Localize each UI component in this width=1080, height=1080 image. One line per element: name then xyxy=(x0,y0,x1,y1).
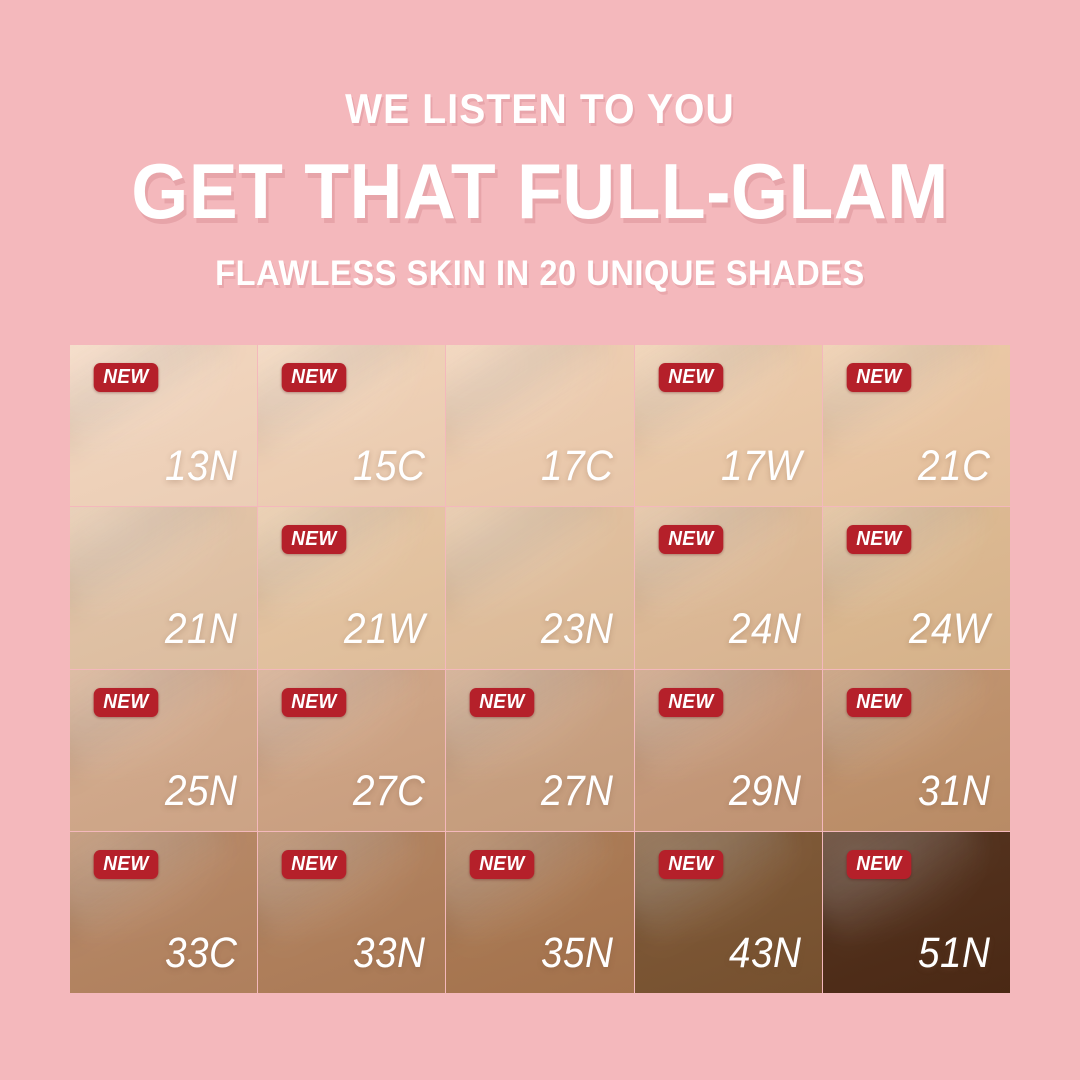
eyebrow-text: WE LISTEN TO YOU xyxy=(38,88,1042,130)
shade-tile[interactable]: NEW33N xyxy=(258,832,445,993)
promo-header: WE LISTEN TO YOU GET THAT FULL-GLAM FLAW… xyxy=(0,0,1080,291)
shade-tile[interactable]: NEW29N xyxy=(635,670,822,831)
new-badge: NEW xyxy=(94,688,158,717)
shade-code-label: 51N xyxy=(918,932,990,975)
shade-tile[interactable]: NEW17W xyxy=(635,345,822,506)
shade-code-label: 33N xyxy=(353,932,425,975)
shade-tile[interactable]: NEW27C xyxy=(258,670,445,831)
new-badge: NEW xyxy=(94,363,158,392)
shade-tile[interactable]: NEW35N xyxy=(446,832,633,993)
shade-code-label: 24W xyxy=(909,608,990,651)
shade-code-label: 27N xyxy=(541,770,613,813)
shade-code-label: 33C xyxy=(165,932,237,975)
new-badge: NEW xyxy=(94,850,158,879)
shade-code-label: 21C xyxy=(918,445,990,488)
shade-tile[interactable]: 17C xyxy=(446,345,633,506)
new-badge: NEW xyxy=(282,525,346,554)
shade-tile[interactable]: NEW31N xyxy=(823,670,1010,831)
shade-tile[interactable]: NEW33C xyxy=(70,832,257,993)
shade-code-label: 21W xyxy=(344,608,425,651)
shade-tile[interactable]: NEW27N xyxy=(446,670,633,831)
new-badge: NEW xyxy=(470,688,534,717)
new-badge: NEW xyxy=(282,850,346,879)
shade-tile[interactable]: NEW15C xyxy=(258,345,445,506)
shade-tile[interactable]: NEW21W xyxy=(258,507,445,668)
shade-tile[interactable]: NEW51N xyxy=(823,832,1010,993)
shade-code-label: 17W xyxy=(721,445,802,488)
new-badge: NEW xyxy=(658,688,722,717)
shade-tile[interactable]: NEW43N xyxy=(635,832,822,993)
new-badge: NEW xyxy=(282,688,346,717)
shade-code-label: 21N xyxy=(165,608,237,651)
shade-code-label: 23N xyxy=(541,608,613,651)
shade-tile[interactable]: NEW25N xyxy=(70,670,257,831)
shade-code-label: 13N xyxy=(165,445,237,488)
new-badge: NEW xyxy=(658,850,722,879)
shade-tile[interactable]: NEW24W xyxy=(823,507,1010,668)
shade-code-label: 25N xyxy=(165,770,237,813)
headline-text: GET THAT FULL-GLAM xyxy=(32,152,1047,230)
shade-code-label: 31N xyxy=(918,770,990,813)
new-badge: NEW xyxy=(846,363,910,392)
new-badge: NEW xyxy=(658,363,722,392)
new-badge: NEW xyxy=(658,525,722,554)
shade-tile[interactable]: NEW13N xyxy=(70,345,257,506)
new-badge: NEW xyxy=(282,363,346,392)
shade-tile[interactable]: 23N xyxy=(446,507,633,668)
new-badge: NEW xyxy=(470,850,534,879)
subheadline-text: FLAWLESS SKIN IN 20 UNIQUE SHADES xyxy=(38,256,1042,291)
shade-grid: NEW13NNEW15C17CNEW17WNEW21C21NNEW21W23NN… xyxy=(70,345,1010,993)
shade-code-label: 35N xyxy=(541,932,613,975)
new-badge: NEW xyxy=(846,525,910,554)
shade-code-label: 17C xyxy=(541,445,613,488)
shade-tile[interactable]: NEW24N xyxy=(635,507,822,668)
shade-code-label: 24N xyxy=(729,608,801,651)
shade-code-label: 43N xyxy=(729,932,801,975)
new-badge: NEW xyxy=(846,688,910,717)
shade-tile[interactable]: NEW21C xyxy=(823,345,1010,506)
shade-code-label: 29N xyxy=(729,770,801,813)
shade-tile[interactable]: 21N xyxy=(70,507,257,668)
new-badge: NEW xyxy=(846,850,910,879)
shade-code-label: 27C xyxy=(353,770,425,813)
shade-code-label: 15C xyxy=(353,445,425,488)
